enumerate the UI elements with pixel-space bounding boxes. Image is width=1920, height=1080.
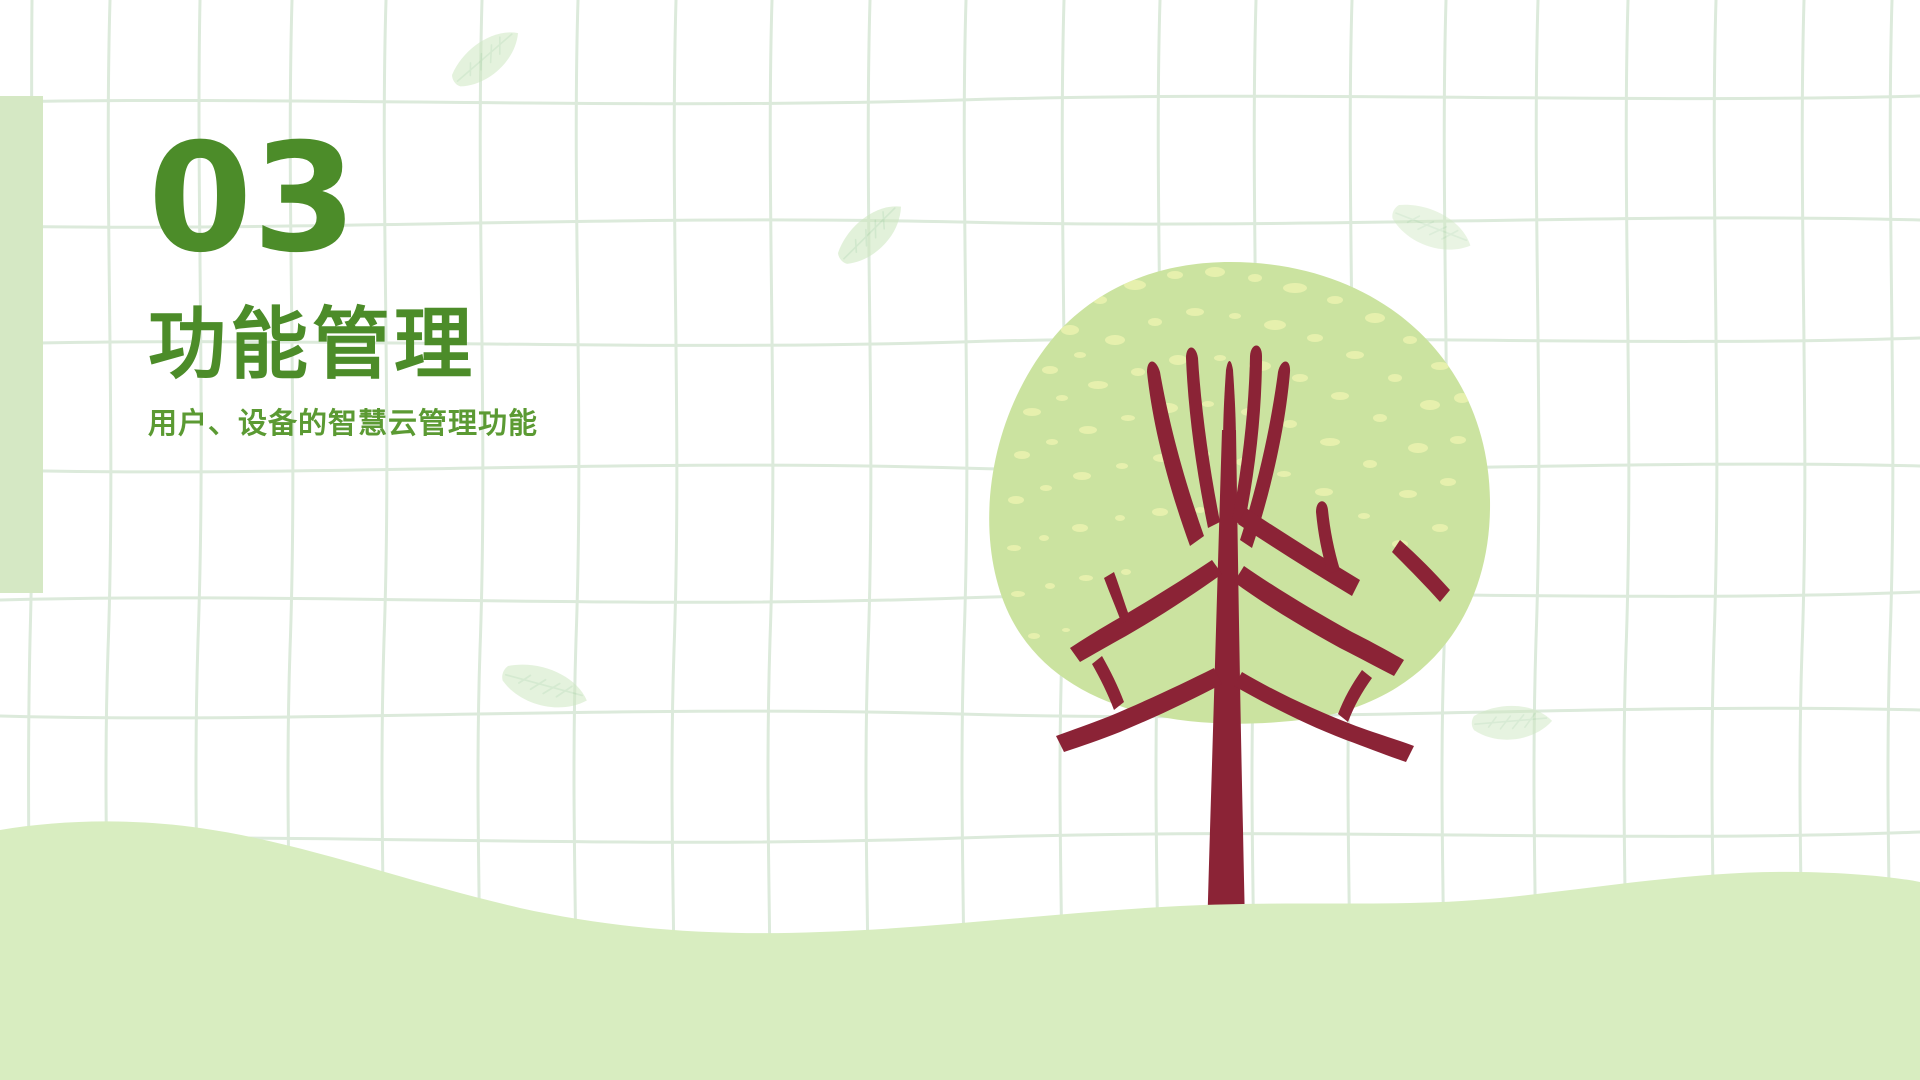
page-title: 功能管理 bbox=[148, 305, 908, 387]
floating-leaf-5 bbox=[1470, 700, 1553, 746]
slide-canvas: 03 功能管理 用户、设备的智慧云管理功能 bbox=[0, 0, 1920, 1080]
floating-leaf-4 bbox=[497, 650, 592, 725]
section-text-block: 03 功能管理 用户、设备的智慧云管理功能 bbox=[148, 128, 908, 442]
floating-leaf-1 bbox=[443, 24, 530, 93]
page-subtitle: 用户、设备的智慧云管理功能 bbox=[148, 400, 908, 442]
section-number: 03 bbox=[148, 128, 908, 271]
floating-leaf-3 bbox=[1386, 190, 1476, 268]
